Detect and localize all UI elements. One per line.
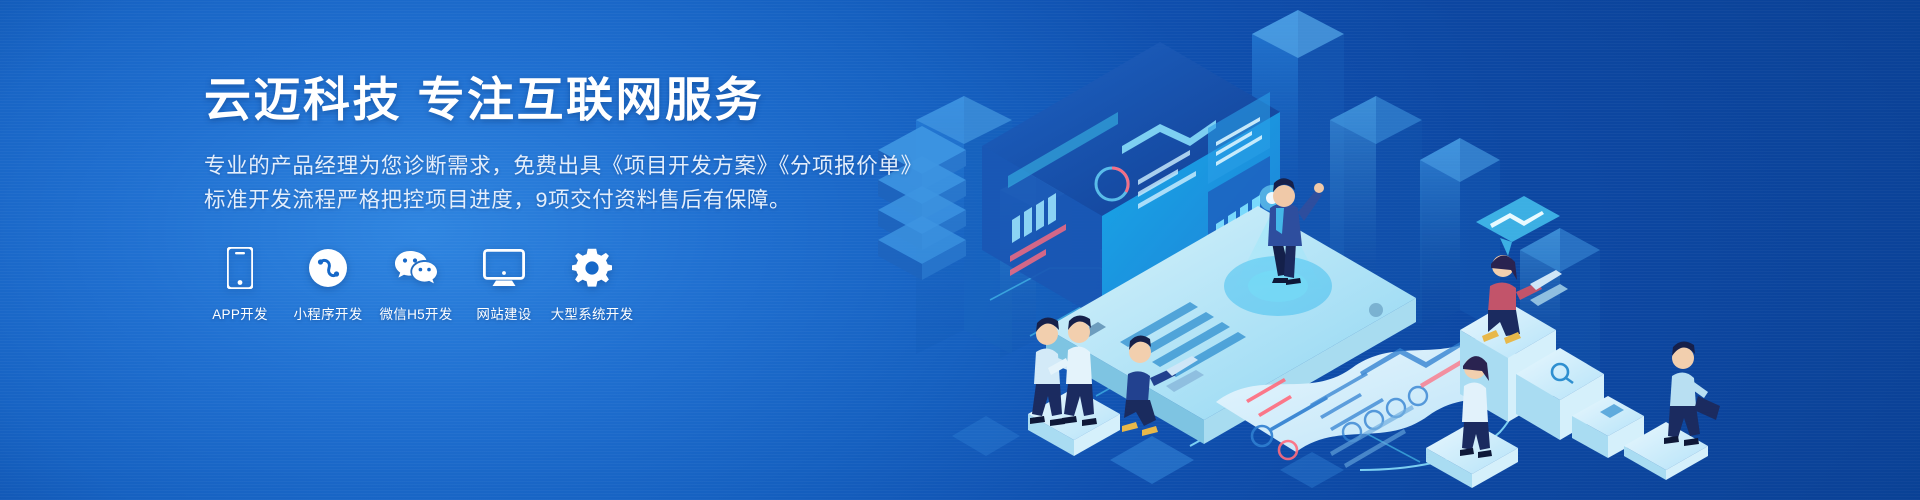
page-title: 云迈科技 专注互联网服务 xyxy=(204,74,1104,127)
subtitle-line-1: 专业的产品经理为您诊断需求，免费出具《项目开发方案》《分项报价单》 xyxy=(204,149,1104,183)
service-label-app: APP开发 xyxy=(212,303,268,323)
service-item-large-system[interactable]: 大型系统开发 xyxy=(556,245,628,323)
service-item-mini-program[interactable]: 小程序开发 xyxy=(292,245,364,323)
gear-icon xyxy=(572,245,612,291)
service-label-mini-program: 小程序开发 xyxy=(294,303,363,323)
subtitle-line-2: 标准开发流程严格把控项目进度，9项交付资料售后有保障。 xyxy=(204,183,1104,217)
mini-program-icon xyxy=(308,245,348,291)
service-label-wechat-h5: 微信H5开发 xyxy=(379,303,452,323)
hero-banner: 云迈科技 专注互联网服务 专业的产品经理为您诊断需求，免费出具《项目开发方案》《… xyxy=(0,0,1920,500)
mobile-phone-icon xyxy=(227,245,253,291)
wechat-icon xyxy=(394,245,438,291)
service-item-website[interactable]: 网站建设 xyxy=(468,245,540,323)
monitor-icon xyxy=(483,245,525,291)
service-item-app[interactable]: APP开发 xyxy=(204,245,276,323)
service-label-large-system: 大型系统开发 xyxy=(551,303,634,323)
service-label-website: 网站建设 xyxy=(476,303,531,323)
service-list: APP开发 小程序开发 xyxy=(204,245,1104,323)
banner-subtitle: 专业的产品经理为您诊断需求，免费出具《项目开发方案》《分项报价单》 标准开发流程… xyxy=(204,149,1104,217)
service-item-wechat-h5[interactable]: 微信H5开发 xyxy=(380,245,452,323)
banner-content: 云迈科技 专注互联网服务 专业的产品经理为您诊断需求，免费出具《项目开发方案》《… xyxy=(204,0,1104,323)
